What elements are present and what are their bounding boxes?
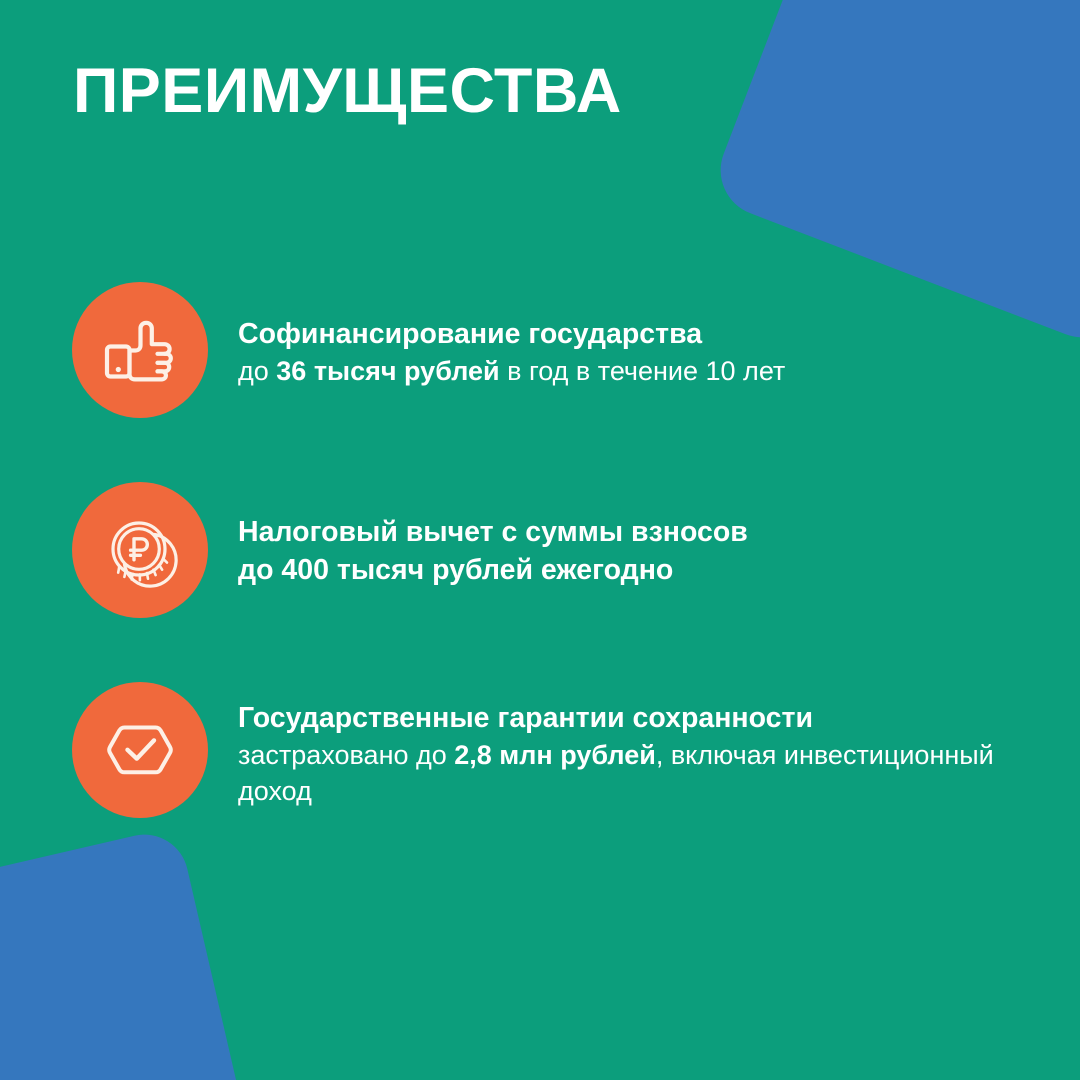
benefit-item: Софинансирование государства до 36 тысяч… [72, 282, 1012, 454]
benefit-heading: Софинансирование государства [238, 316, 1012, 352]
benefit-item: Государственные гарантии сохранности зас… [72, 682, 1012, 854]
benefit-subtext-prefix: до [238, 356, 276, 386]
benefit-subtext: застраховано до 2,8 млн рублей, включая … [238, 738, 1012, 810]
benefit-heading: Налоговый вычет с суммы взносов [238, 514, 1012, 550]
benefit-subtext-suffix: в год в течение 10 лет [500, 356, 786, 386]
benefit-subtext-highlight: до 400 тысяч рублей ежегодно [238, 554, 673, 586]
benefit-text: Налоговый вычет с суммы взносов до 400 т… [208, 482, 1012, 590]
benefit-icon-badge [72, 282, 208, 418]
benefit-icon-badge [72, 682, 208, 818]
benefit-subtext-highlight: 2,8 млн рублей [454, 740, 656, 770]
benefit-subtext: до 400 тысяч рублей ежегодно [238, 552, 1012, 590]
blue-shape-bottom-left [0, 826, 252, 1080]
benefit-subtext-highlight: 36 тысяч рублей [276, 356, 499, 386]
poster-canvas: ПРЕИМУЩЕСТВА [0, 0, 1080, 1080]
thumbs-up-icon [98, 308, 182, 392]
ruble-coin-icon [98, 508, 182, 592]
benefit-heading: Государственные гарантии сохранности [238, 700, 1012, 736]
page-title: ПРЕИМУЩЕСТВА [73, 58, 622, 124]
benefit-icon-badge [72, 482, 208, 618]
benefit-item: Налоговый вычет с суммы взносов до 400 т… [72, 482, 1012, 654]
hexagon-check-icon [98, 708, 182, 792]
benefit-subtext: до 36 тысяч рублей в год в течение 10 ле… [238, 354, 1012, 390]
benefit-subtext-prefix: застраховано до [238, 740, 454, 770]
benefit-text: Софинансирование государства до 36 тысяч… [208, 282, 1012, 390]
benefits-list: Софинансирование государства до 36 тысяч… [72, 282, 1012, 854]
benefit-text: Государственные гарантии сохранности зас… [208, 682, 1012, 810]
